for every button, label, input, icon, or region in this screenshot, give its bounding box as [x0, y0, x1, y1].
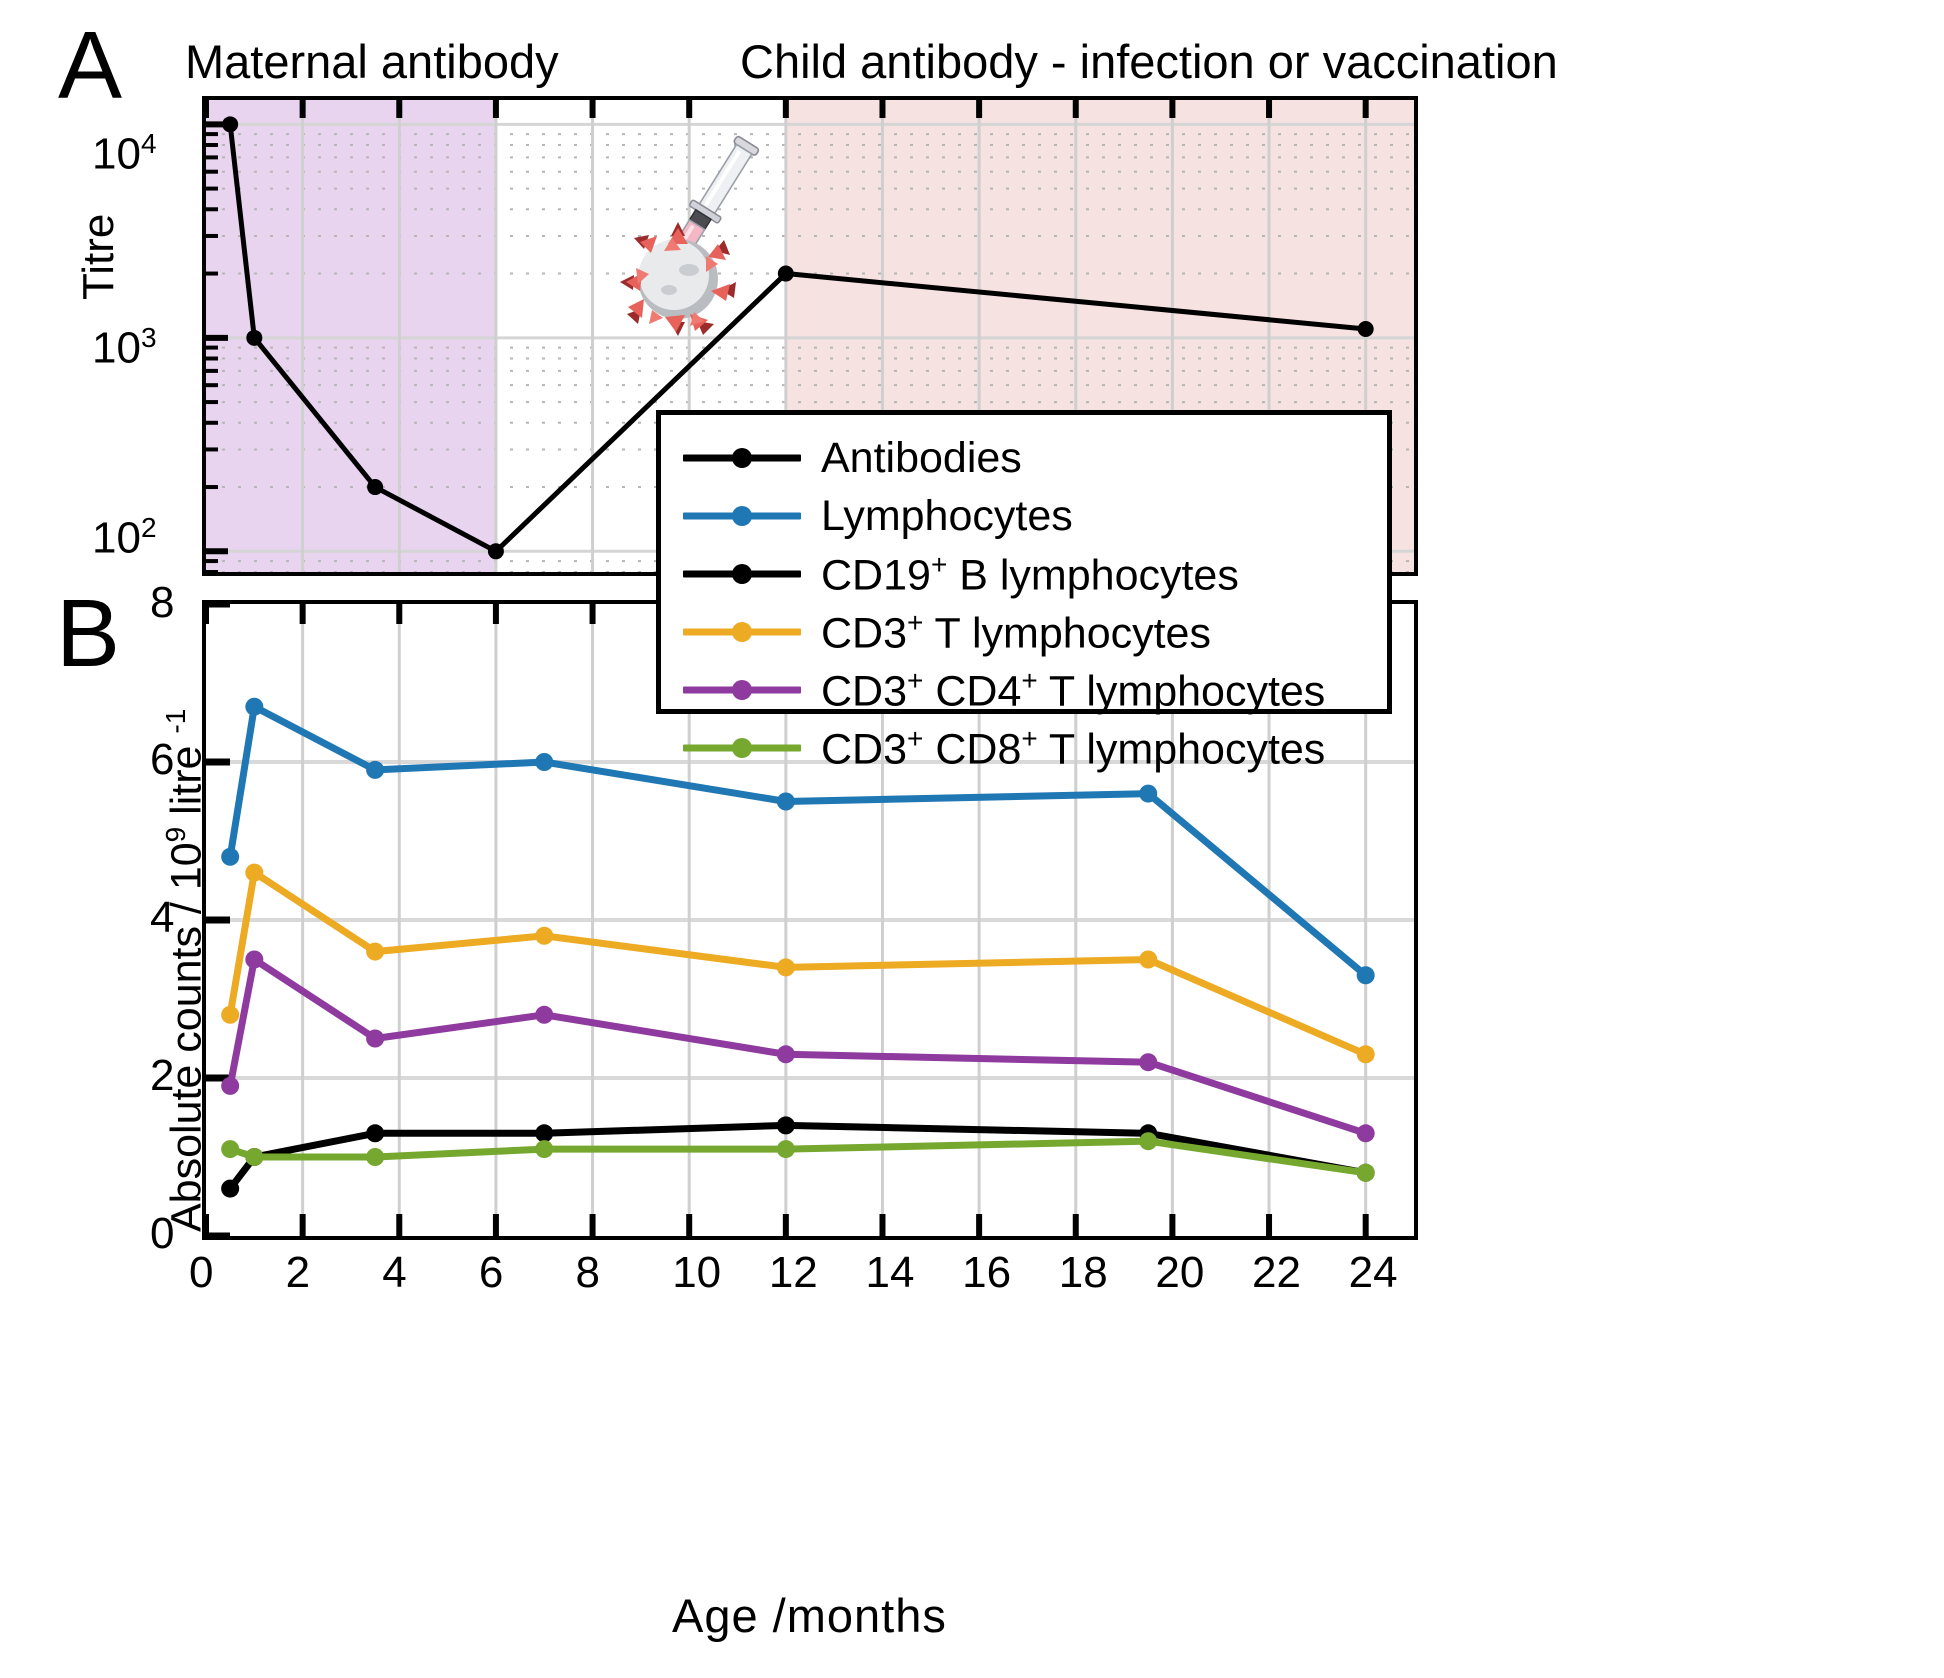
legend-label-lymphocytes: Lymphocytes	[821, 495, 1073, 538]
data-point	[535, 1006, 553, 1024]
legend-label-cd3-t-post: T lymphocytes	[923, 609, 1211, 657]
legend-label-cd3-cd4-t-post: T lymphocytes	[1038, 667, 1326, 715]
legend-label-antibodies: Antibodies	[821, 437, 1022, 480]
data-point	[221, 1140, 239, 1158]
legend-swatch-antibodies	[683, 454, 801, 462]
panel-a-letter: A	[58, 18, 122, 114]
data-point	[245, 698, 263, 716]
data-point	[366, 1124, 384, 1142]
data-point	[221, 848, 239, 866]
legend-label-cd3-cd8-t-post: T lymphocytes	[1038, 725, 1326, 773]
legend-item-cd19-b[interactable]: CD19+ B lymphocytes	[661, 545, 1387, 603]
panel-a-header-right: Child antibody - infection or vaccinatio…	[740, 38, 1558, 85]
legend-label-cd3-t-pre: CD3	[821, 609, 907, 657]
panel-b-xtick-12: 12	[769, 1248, 818, 1298]
legend-label-cd3-cd4-t: CD3+ CD4+ T lymphocytes	[821, 667, 1325, 713]
panel-b-ytick-4: 4	[150, 893, 174, 943]
legend-label-cd3-cd8-t-mid: CD8	[923, 725, 1021, 773]
data-point	[1139, 1053, 1157, 1071]
data-point	[535, 753, 553, 771]
panel-b-ytick-8: 8	[150, 578, 174, 628]
legend-item-cd3-cd8-t[interactable]: CD3+ CD8+ T lymphocytes	[661, 719, 1387, 777]
legend-label-cd3-cd4-t-pre: CD3	[821, 667, 907, 715]
panel-b-xtick-10: 10	[672, 1248, 721, 1298]
panel-a-ytick-10e3: 103	[92, 322, 157, 374]
legend-label-cd3-cd4-t-sup2: +	[1021, 665, 1037, 696]
data-point	[777, 1045, 795, 1063]
figure-root: A Maternal antibody Child antibody - inf…	[0, 0, 1944, 1678]
panel-b-xtick-4: 4	[382, 1248, 406, 1298]
data-point	[777, 793, 795, 811]
data-point	[222, 116, 238, 132]
legend-label-cd19-b: CD19+ B lymphocytes	[821, 551, 1239, 597]
panel-b-xtick-18: 18	[1059, 1248, 1108, 1298]
panel-b-xtick-8: 8	[576, 1248, 600, 1298]
legend-label-cd19-b-pre: CD19	[821, 551, 931, 599]
data-point	[535, 1140, 553, 1158]
data-point	[366, 761, 384, 779]
data-point	[245, 864, 263, 882]
legend-label-cd3-t: CD3+ T lymphocytes	[821, 609, 1211, 655]
data-point	[245, 1148, 263, 1166]
legend-label-cd3-t-sup: +	[907, 607, 923, 638]
legend-label-cd3-cd4-t-sup: +	[907, 665, 923, 696]
data-point	[488, 543, 504, 559]
panel-b-ytick-6: 6	[150, 735, 174, 785]
coronavirus-icon	[614, 216, 742, 342]
panel-b-xtick-14: 14	[865, 1248, 914, 1298]
legend-item-antibodies[interactable]: Antibodies	[661, 429, 1387, 487]
panel-b-xtick-6: 6	[479, 1248, 503, 1298]
data-point	[1357, 1164, 1375, 1182]
panel-b-xtick-2: 2	[286, 1248, 310, 1298]
panel-a-y-axis-title: Titre	[74, 214, 124, 300]
legend-item-cd3-t[interactable]: CD3+ T lymphocytes	[661, 603, 1387, 661]
legend-item-lymphocytes[interactable]: Lymphocytes	[661, 487, 1387, 545]
data-point	[535, 1124, 553, 1142]
legend-label-cd3-cd8-t-pre: CD3	[821, 725, 907, 773]
panel-b-ytick-2: 2	[150, 1051, 174, 1101]
panel-b-letter: B	[56, 586, 120, 682]
legend-swatch-lymphocytes	[683, 512, 801, 520]
data-point	[221, 1180, 239, 1198]
legend-label-cd19-b-sup: +	[931, 549, 947, 580]
data-point	[366, 943, 384, 961]
data-point	[366, 1148, 384, 1166]
legend-label-cd3-cd8-t: CD3+ CD8+ T lymphocytes	[821, 725, 1325, 771]
data-point	[777, 958, 795, 976]
data-point	[1139, 785, 1157, 803]
legend-swatch-cd19-b	[683, 570, 801, 578]
data-point	[246, 330, 262, 346]
panel-b-xtick-22: 22	[1252, 1248, 1301, 1298]
legend-label-cd3-cd8-t-sup2: +	[1021, 723, 1037, 754]
panel-b-xtick-0: 0	[189, 1248, 213, 1298]
data-point	[777, 1140, 795, 1158]
panel-a-ytick-10e2: 102	[92, 512, 157, 564]
data-point	[778, 266, 794, 282]
data-point	[1358, 321, 1374, 337]
panel-b-xtick-20: 20	[1155, 1248, 1204, 1298]
panel-a-ytick-10e4: 104	[92, 128, 157, 180]
legend-swatch-cd3-cd4-t	[683, 686, 801, 694]
legend-box: Antibodies Lymphocytes CD19+ B lymphocyt…	[656, 410, 1392, 714]
legend-label-cd19-b-post: B lymphocytes	[947, 551, 1239, 599]
legend-label-cd3-cd4-t-mid: CD4	[923, 667, 1021, 715]
data-point	[366, 1030, 384, 1048]
data-point	[221, 1077, 239, 1095]
legend-swatch-cd3-cd8-t	[683, 744, 801, 752]
data-point	[367, 479, 383, 495]
legend-label-cd3-cd8-t-sup: +	[907, 723, 923, 754]
data-point	[1357, 1045, 1375, 1063]
data-point	[221, 1006, 239, 1024]
legend-item-cd3-cd4-t[interactable]: CD3+ CD4+ T lymphocytes	[661, 661, 1387, 719]
panel-b-x-axis-title: Age /months	[672, 1588, 947, 1643]
panel-b-xtick-24: 24	[1349, 1248, 1398, 1298]
panel-a-header-left: Maternal antibody	[185, 38, 559, 85]
data-point	[1139, 951, 1157, 969]
data-point	[245, 951, 263, 969]
data-point	[1139, 1132, 1157, 1150]
panel-b-ytick-0: 0	[150, 1209, 174, 1259]
panel-b-xtick-16: 16	[962, 1248, 1011, 1298]
data-point	[777, 1116, 795, 1134]
legend-swatch-cd3-t	[683, 628, 801, 636]
data-point	[535, 927, 553, 945]
data-point	[1357, 1124, 1375, 1142]
data-point	[1357, 966, 1375, 984]
